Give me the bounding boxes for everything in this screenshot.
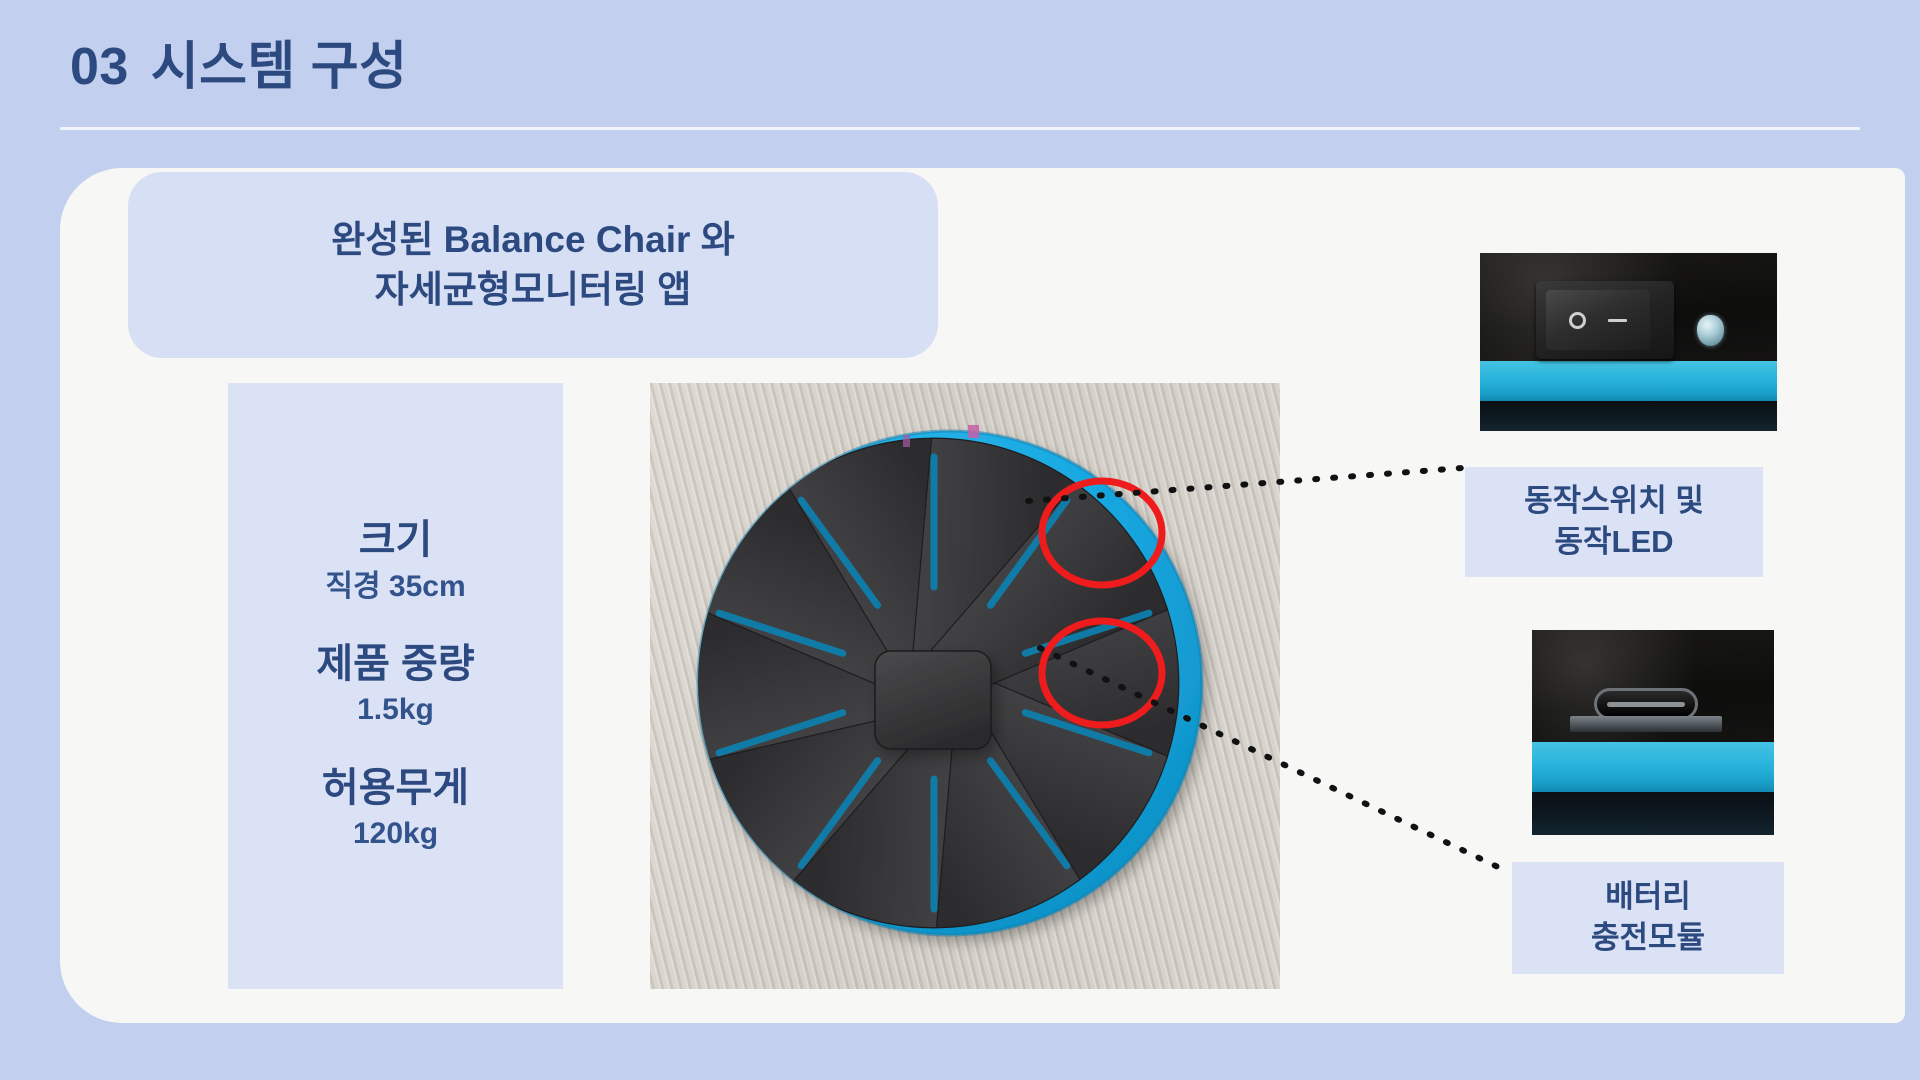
battery-under-shadow (1532, 792, 1774, 835)
callout-line-2: 동작LED (1554, 522, 1673, 563)
status-led-icon (1697, 315, 1724, 346)
spec-panel: 크기 직경 35cm 제품 중량 1.5kg 허용무게 120kg (228, 383, 563, 989)
rocker-switch-face (1546, 290, 1650, 350)
switch-under-shadow (1480, 401, 1777, 431)
header-line-1: 완성된 Balance Chair 와 (331, 215, 735, 265)
switch-cyan-rail (1480, 361, 1777, 401)
spec-value: 직경 35cm (325, 567, 465, 608)
spec-value: 1.5kg (316, 690, 474, 731)
rocker-switch-icon (1536, 281, 1674, 359)
page-title: 03시스템 구성 (70, 24, 408, 99)
battery-cyan-rail (1532, 742, 1774, 792)
balance-board-illustration (650, 383, 1280, 989)
callout-battery-label: 배터리 충전모듈 (1512, 862, 1784, 974)
callout-line-1: 배터리 (1605, 877, 1691, 918)
usb-mount-plate (1570, 716, 1722, 732)
title-divider (60, 127, 1860, 130)
header-pill: 완성된 Balance Chair 와 자세균형모니터링 앱 (128, 172, 938, 358)
power-on-dash-icon (1608, 319, 1627, 322)
spec-label: 허용무게 (322, 765, 469, 812)
header-line-2: 자세균형모니터링 앱 (375, 265, 692, 315)
spec-item-size: 크기 직경 35cm (325, 517, 465, 607)
spec-item-weight: 제품 중량 1.5kg (316, 641, 474, 731)
product-photo-balance-board (650, 383, 1280, 989)
spec-value: 120kg (322, 814, 469, 855)
detail-photo-switch (1480, 253, 1777, 431)
power-off-circle-icon (1569, 312, 1586, 329)
callout-line-1: 동작스위치 및 (1524, 481, 1704, 522)
spec-label: 크기 (325, 517, 465, 564)
slide-number: 03 (70, 38, 129, 96)
callout-line-2: 충전모듈 (1591, 918, 1705, 959)
spec-label: 제품 중량 (316, 641, 474, 688)
callout-switch-label: 동작스위치 및 동작LED (1465, 467, 1763, 577)
spec-item-capacity: 허용무게 120kg (322, 765, 469, 855)
slide-title-text: 시스템 구성 (151, 38, 408, 96)
detail-photo-battery (1532, 630, 1774, 835)
